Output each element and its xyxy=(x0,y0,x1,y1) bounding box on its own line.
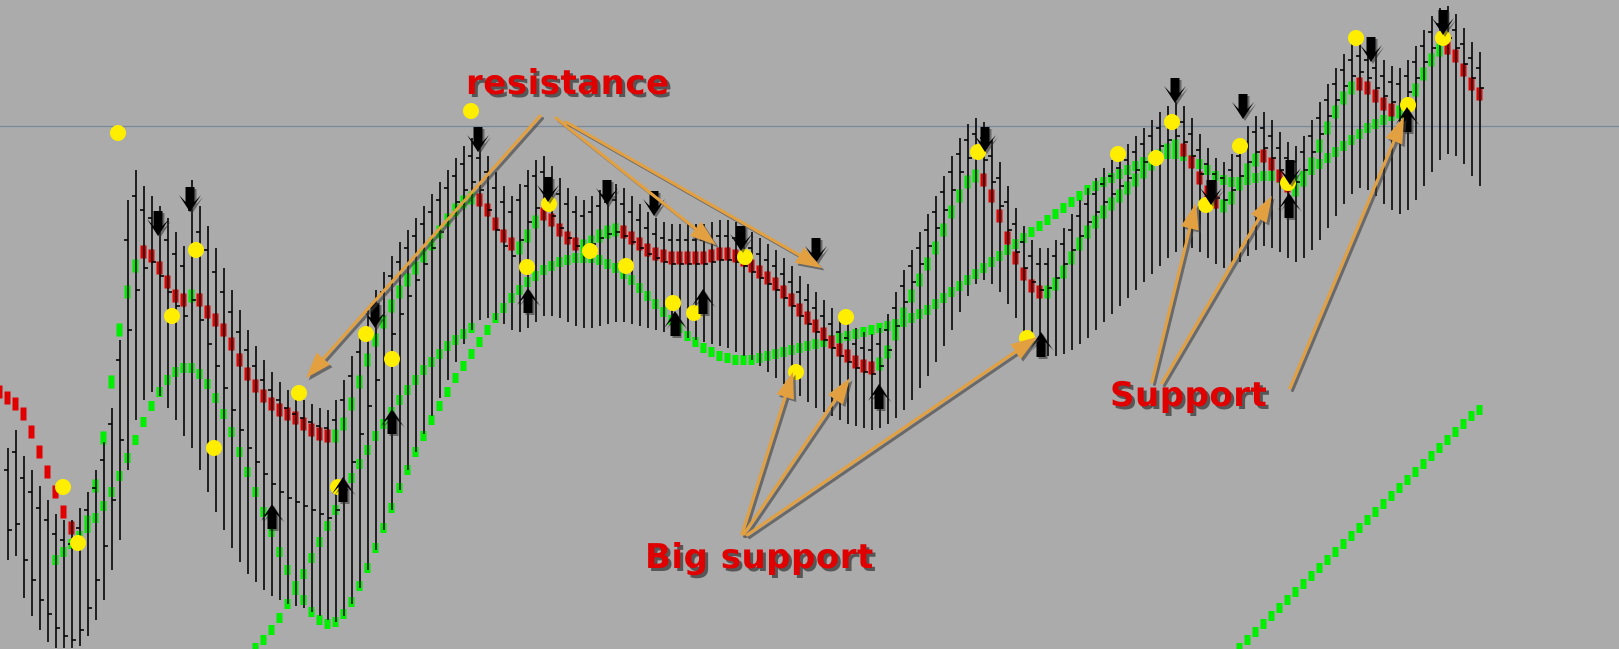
price-bar xyxy=(1212,158,1220,264)
price-bar xyxy=(780,258,788,384)
price-bar xyxy=(380,272,388,530)
band-segment xyxy=(1461,419,1467,429)
band-segment xyxy=(1077,191,1083,201)
price-bar xyxy=(1340,54,1348,204)
band-segment xyxy=(733,355,739,365)
annotation-arrow xyxy=(556,118,716,245)
price-bar xyxy=(1092,178,1100,330)
price-bar xyxy=(948,156,956,330)
band-segment xyxy=(869,325,875,335)
price-bar xyxy=(652,218,660,330)
band-segment xyxy=(469,349,475,359)
price-bar xyxy=(1052,240,1060,356)
price-bar xyxy=(908,250,916,400)
down-arrow-marker-icon xyxy=(1164,78,1186,103)
price-bar xyxy=(604,186,612,324)
price-bar xyxy=(1300,136,1308,258)
band-segment xyxy=(725,353,731,363)
price-bar xyxy=(1348,44,1356,194)
band-segment xyxy=(61,506,67,519)
price-bar xyxy=(612,184,620,322)
down-arrow-marker-icon xyxy=(179,187,201,212)
price-bar xyxy=(844,322,852,424)
band-segment xyxy=(477,337,483,347)
price-bar xyxy=(1364,44,1372,190)
price-bar xyxy=(1460,28,1468,164)
price-bar xyxy=(1220,162,1228,268)
trading-chart-screenshot: resistanceBig supportSupport xyxy=(0,0,1619,649)
band-segment xyxy=(277,613,283,623)
signal-dot xyxy=(164,308,180,324)
band-segment xyxy=(45,466,51,479)
price-bar xyxy=(1140,128,1148,282)
band-segment xyxy=(141,417,147,427)
price-bar xyxy=(924,214,932,376)
signal-dot xyxy=(1110,146,1126,162)
price-bar xyxy=(140,186,148,400)
price-bar xyxy=(1108,160,1116,314)
price-bar xyxy=(1100,168,1108,322)
band-segment xyxy=(253,643,259,649)
band-segment xyxy=(29,426,35,439)
price-bar xyxy=(452,158,460,362)
price-bar xyxy=(812,292,820,408)
band-segment xyxy=(1325,555,1331,565)
price-bar xyxy=(996,162,1004,292)
annotation-arrow xyxy=(1162,196,1272,383)
price-bar xyxy=(1380,60,1388,204)
band-segment xyxy=(5,392,11,405)
down-arrow-marker-icon xyxy=(537,177,559,202)
price-bar xyxy=(940,176,948,346)
price-bar xyxy=(716,220,724,346)
price-bar xyxy=(292,396,300,606)
band-segment xyxy=(1285,595,1291,605)
price-bar xyxy=(180,246,188,436)
signal-dot xyxy=(838,309,854,325)
annotation-label-big-support: Big support xyxy=(645,540,874,574)
price-bar xyxy=(876,328,884,428)
price-bar xyxy=(620,188,628,322)
price-bar xyxy=(644,212,652,328)
price-bar xyxy=(172,232,180,420)
signal-dot xyxy=(737,249,753,265)
price-bar xyxy=(188,180,196,448)
band-segment xyxy=(133,435,139,445)
band-segment xyxy=(1269,611,1275,621)
price-bar xyxy=(100,442,108,600)
band-segment xyxy=(1277,603,1283,613)
price-bar xyxy=(124,200,132,470)
signal-dot xyxy=(291,385,307,401)
signal-dot xyxy=(1232,138,1248,154)
band-segment xyxy=(1349,531,1355,541)
price-bar xyxy=(1228,154,1236,266)
price-bar xyxy=(60,520,68,648)
price-bar xyxy=(396,242,404,490)
price-bar xyxy=(516,184,524,332)
price-bar xyxy=(1060,228,1068,354)
price-bar xyxy=(4,448,12,560)
price-bar xyxy=(212,248,220,512)
band-segment xyxy=(1029,227,1035,237)
price-bar xyxy=(476,142,484,320)
price-bar xyxy=(580,200,588,328)
signal-dot xyxy=(582,243,598,259)
price-bar xyxy=(364,310,372,570)
price-bar xyxy=(1084,188,1092,338)
band-segment xyxy=(429,415,435,425)
band-segment xyxy=(1469,411,1475,421)
band-segment xyxy=(1389,491,1395,501)
signal-dot xyxy=(1164,114,1180,130)
price-bar xyxy=(1468,42,1476,176)
band-segment xyxy=(325,619,331,629)
band-segment xyxy=(1429,451,1435,461)
price-bar xyxy=(884,314,892,424)
price-bar xyxy=(684,224,692,338)
down-arrow-marker-icon xyxy=(1432,10,1454,35)
price-bar xyxy=(756,238,764,366)
price-bar xyxy=(420,206,428,434)
price-bar xyxy=(28,470,36,616)
price-bar xyxy=(372,290,380,550)
down-arrow-marker-icon xyxy=(147,211,169,236)
band-segment xyxy=(1301,579,1307,589)
price-bar xyxy=(84,492,92,636)
band-segment xyxy=(1253,627,1259,637)
price-bar xyxy=(244,330,252,574)
price-bar xyxy=(1132,136,1140,290)
price-bar xyxy=(468,138,476,330)
fast-trend-band-layer xyxy=(0,42,1483,545)
band-segment xyxy=(13,398,19,411)
band-segment xyxy=(117,324,123,337)
price-bar xyxy=(492,172,500,320)
price-bar xyxy=(1076,200,1084,344)
annotation-label-support: Support xyxy=(1110,378,1267,412)
band-segment xyxy=(1237,643,1243,649)
band-segment xyxy=(1397,483,1403,493)
band-segment xyxy=(1293,587,1299,597)
price-bar xyxy=(1332,68,1340,216)
price-bar xyxy=(44,500,52,642)
band-segment xyxy=(37,446,43,459)
price-bar xyxy=(1156,112,1164,266)
band-segment xyxy=(701,343,707,353)
price-bar xyxy=(636,204,644,326)
signal-dot xyxy=(110,125,126,141)
band-segment xyxy=(1317,563,1323,573)
price-bar xyxy=(972,118,980,284)
price-bar xyxy=(1428,16,1436,172)
band-segment xyxy=(1309,571,1315,581)
price-bar xyxy=(1476,52,1484,186)
price-bar xyxy=(52,514,60,648)
band-segment xyxy=(1365,515,1371,525)
price-bar xyxy=(692,224,700,340)
price-bar xyxy=(228,290,236,548)
price-bar xyxy=(724,220,732,348)
price-bar xyxy=(484,156,492,318)
price-bar xyxy=(220,268,228,530)
price-bar xyxy=(1068,214,1076,350)
band-segment xyxy=(21,408,27,421)
band-segment xyxy=(1341,539,1347,549)
price-bar xyxy=(900,270,908,410)
signal-dot xyxy=(188,242,204,258)
price-bar xyxy=(1196,134,1204,252)
signal-dot xyxy=(206,440,222,456)
price-bar xyxy=(1356,40,1364,188)
price-bar xyxy=(76,508,84,646)
down-arrow-marker-icon xyxy=(1232,94,1254,119)
band-segment xyxy=(1357,523,1363,533)
band-segment xyxy=(709,347,715,357)
up-arrow-marker-icon xyxy=(664,311,686,336)
price-bar xyxy=(460,146,468,344)
signal-dot xyxy=(665,295,681,311)
price-bar xyxy=(20,456,28,598)
band-segment xyxy=(1037,221,1043,231)
signal-dot xyxy=(463,103,479,119)
annotation-arrow xyxy=(1290,117,1404,388)
price-bar xyxy=(508,196,516,330)
band-segment xyxy=(437,401,443,411)
band-segment xyxy=(445,387,451,397)
annotation-arrow xyxy=(306,116,540,378)
signal-dot xyxy=(519,259,535,275)
band-segment xyxy=(1373,507,1379,517)
price-bar xyxy=(36,486,44,630)
band-segment xyxy=(1245,635,1251,645)
band-segment xyxy=(461,361,467,371)
price-bar xyxy=(932,196,940,362)
band-segment xyxy=(1069,197,1075,207)
price-bar xyxy=(132,170,140,420)
band-segment xyxy=(1261,619,1267,629)
price-bar xyxy=(852,328,860,426)
band-segment xyxy=(149,401,155,411)
price-bar xyxy=(428,194,436,416)
band-segment xyxy=(1421,459,1427,469)
signal-dot xyxy=(358,326,374,342)
price-bar xyxy=(1452,14,1460,156)
price-bar xyxy=(860,332,868,428)
band-segment xyxy=(1477,405,1483,415)
signal-dot xyxy=(55,479,71,495)
price-bar xyxy=(1404,60,1412,210)
band-segment xyxy=(109,376,115,389)
band-segment xyxy=(741,355,747,365)
band-segment xyxy=(1445,435,1451,445)
price-bar xyxy=(1148,120,1156,274)
price-bar xyxy=(1412,46,1420,200)
band-segment xyxy=(1453,427,1459,437)
signal-dot xyxy=(70,535,86,551)
price-bar xyxy=(1308,120,1316,250)
band-segment xyxy=(1333,547,1339,557)
price-bar xyxy=(236,310,244,562)
band-segment xyxy=(717,351,723,361)
price-bar xyxy=(12,430,20,556)
annotation-arrow xyxy=(744,378,850,534)
signal-dot xyxy=(1348,30,1364,46)
price-bar xyxy=(116,340,124,540)
band-segment xyxy=(1381,499,1387,509)
price-bar xyxy=(1276,132,1284,252)
band-segment xyxy=(453,373,459,383)
price-bar xyxy=(1268,120,1276,248)
band-segment xyxy=(1045,215,1051,225)
price-bar xyxy=(556,178,564,318)
price-bar xyxy=(436,182,444,398)
band-segment xyxy=(261,635,267,645)
band-segment xyxy=(1061,203,1067,213)
band-segment xyxy=(1437,443,1443,453)
signal-dot xyxy=(618,258,634,274)
price-bar xyxy=(1316,102,1324,240)
price-bar xyxy=(892,292,900,418)
band-segment xyxy=(0,386,3,399)
annotation-label-resistance: resistance xyxy=(466,66,670,100)
band-segment xyxy=(1405,475,1411,485)
price-bar xyxy=(1420,30,1428,186)
band-segment xyxy=(317,615,323,625)
signal-dot xyxy=(1148,150,1164,166)
band-segment xyxy=(1413,467,1419,477)
price-bar xyxy=(868,334,876,430)
signal-dot xyxy=(384,351,400,367)
band-segment xyxy=(269,625,275,635)
band-segment xyxy=(485,325,491,335)
price-bar xyxy=(388,256,396,510)
down-arrow-marker-icon xyxy=(467,127,489,152)
band-segment xyxy=(1053,209,1059,219)
price-bar xyxy=(820,300,828,412)
